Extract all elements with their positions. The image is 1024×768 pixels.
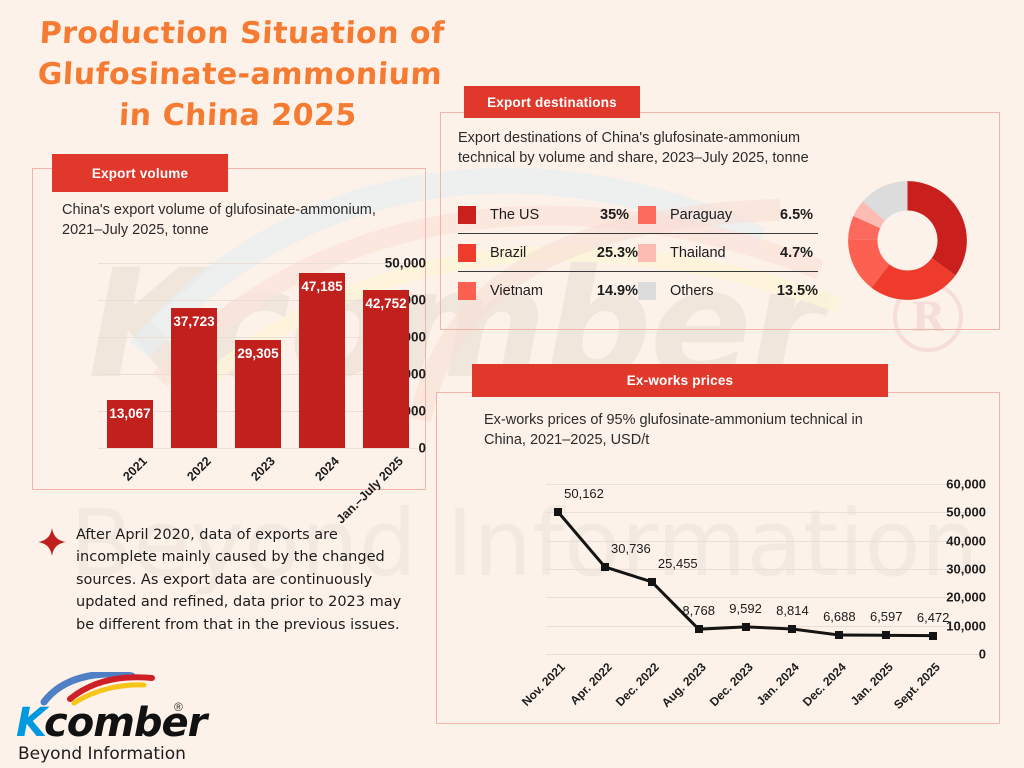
line-data-point bbox=[929, 632, 937, 640]
donut-svg bbox=[845, 178, 970, 303]
line-data-point bbox=[695, 625, 703, 633]
line-value-label: 9,592 bbox=[729, 601, 762, 616]
line-value-label: 8,768 bbox=[682, 603, 715, 618]
export-destinations-subtitle: Export destinations of China's glufosina… bbox=[458, 128, 858, 168]
legend-item: Brazil25.3% bbox=[458, 244, 638, 262]
bar-value-label: 42,752 bbox=[363, 296, 409, 311]
page-title-line-1: Production Situation of bbox=[31, 14, 453, 55]
export-volume-banner: Export volume bbox=[52, 154, 228, 192]
legend-item: Others13.5% bbox=[638, 282, 818, 300]
legend-row: Vietnam14.9%Others13.5% bbox=[458, 272, 818, 309]
line-data-point bbox=[648, 578, 656, 586]
page-title-line-3: in China 2025 bbox=[27, 96, 449, 137]
line-data-point bbox=[882, 631, 890, 639]
bar bbox=[299, 273, 345, 448]
bar-value-label: 47,185 bbox=[299, 279, 345, 294]
kcomber-logo: K comber ® Beyond Information bbox=[16, 686, 236, 758]
legend-item: Vietnam14.9% bbox=[458, 282, 638, 300]
line-value-label: 30,736 bbox=[611, 541, 651, 556]
ex-works-prices-banner: Ex-works prices bbox=[472, 364, 888, 397]
legend-row: The US35%Paraguay6.5% bbox=[458, 196, 818, 234]
page-title-line-2: Glufosinate-ammonium bbox=[29, 55, 451, 96]
line-value-label: 6,688 bbox=[823, 609, 856, 624]
legend-color-swatch bbox=[458, 282, 476, 300]
infographic-page: Kcomber Beyond Information R Production … bbox=[0, 0, 1024, 768]
legend-color-swatch bbox=[638, 244, 656, 262]
bar-value-label: 37,723 bbox=[171, 314, 217, 329]
export-volume-subtitle: China's export volume of glufosinate-amm… bbox=[62, 200, 382, 240]
line-data-point bbox=[742, 623, 750, 631]
bar-gridline bbox=[98, 448, 418, 449]
export-volume-bar-chart: 010,00020,00030,00040,00050,00013,067202… bbox=[36, 255, 426, 490]
legend-color-swatch bbox=[638, 282, 656, 300]
legend-value: 13.5% bbox=[777, 283, 818, 299]
line-value-label: 50,162 bbox=[564, 486, 604, 501]
legend-item: Thailand4.7% bbox=[638, 244, 818, 262]
line-value-label: 8,814 bbox=[776, 603, 809, 618]
legend-label: Others bbox=[670, 283, 777, 299]
star-icon bbox=[38, 528, 66, 556]
export-destinations-banner: Export destinations bbox=[464, 86, 640, 118]
line-data-point bbox=[835, 631, 843, 639]
line-value-label: 6,472 bbox=[917, 610, 950, 625]
donut-slice bbox=[908, 181, 967, 275]
logo-registered-icon: ® bbox=[174, 700, 183, 714]
line-data-point bbox=[788, 625, 796, 633]
ex-works-prices-subtitle: Ex-works prices of 95% glufosinate-ammon… bbox=[484, 410, 904, 450]
line-data-point bbox=[601, 563, 609, 571]
legend-item: Paraguay6.5% bbox=[638, 206, 818, 224]
legend-value: 25.3% bbox=[597, 245, 638, 261]
bar-value-label: 13,067 bbox=[107, 406, 153, 421]
page-title: Production Situation of Glufosinate-ammo… bbox=[27, 14, 453, 136]
legend-value: 6.5% bbox=[780, 207, 813, 223]
legend-value: 35% bbox=[600, 207, 629, 223]
ex-works-prices-line-chart: 010,00020,00030,00040,00050,00060,00050,… bbox=[476, 462, 986, 722]
legend-value: 4.7% bbox=[780, 245, 813, 261]
bar-y-tick-label: 50,000 bbox=[372, 256, 426, 271]
legend-label: Vietnam bbox=[490, 283, 597, 299]
line-data-point bbox=[554, 508, 562, 516]
legend-row: Brazil25.3%Thailand4.7% bbox=[458, 234, 818, 272]
bar-value-label: 29,305 bbox=[235, 346, 281, 361]
legend-label: Paraguay bbox=[670, 207, 780, 223]
logo-letter-k: K bbox=[16, 700, 47, 746]
line-value-label: 6,597 bbox=[870, 609, 903, 624]
legend-value: 14.9% bbox=[597, 283, 638, 299]
logo-tagline: Beyond Information bbox=[18, 744, 186, 764]
legend-color-swatch bbox=[458, 244, 476, 262]
legend-color-swatch bbox=[638, 206, 656, 224]
legend-label: Brazil bbox=[490, 245, 597, 261]
legend-color-swatch bbox=[458, 206, 476, 224]
export-destinations-donut-chart bbox=[845, 178, 970, 303]
bar bbox=[363, 290, 409, 448]
footnote-text: After April 2020, data of exports are in… bbox=[76, 524, 406, 636]
line-value-label: 25,455 bbox=[658, 556, 698, 571]
legend-label: Thailand bbox=[670, 245, 780, 261]
bar-gridline bbox=[98, 263, 418, 264]
export-destinations-legend: The US35%Paraguay6.5%Brazil25.3%Thailand… bbox=[458, 196, 818, 309]
legend-label: The US bbox=[490, 207, 600, 223]
legend-item: The US35% bbox=[458, 206, 638, 224]
